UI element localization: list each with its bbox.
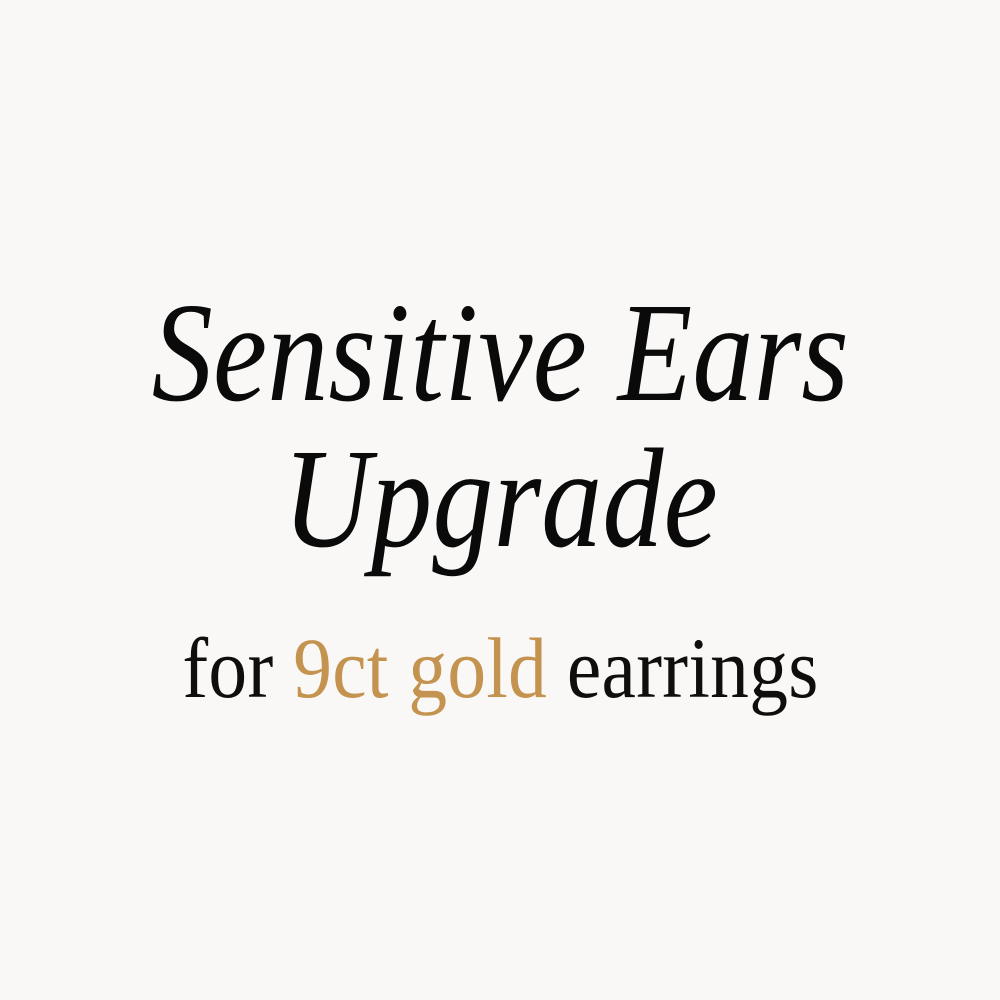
headline-line-2: Upgrade [151,427,848,569]
promo-card: Sensitive Ears Upgrade for 9ct gold earr… [0,0,1000,1000]
subtitle-prefix: for [182,620,273,716]
page-title: Sensitive Ears Upgrade [95,281,906,569]
subtitle-highlight-9ct-gold: 9ct gold [293,620,547,716]
subtitle: for 9ct gold earrings [182,623,818,713]
headline-line-1: Sensitive Ears [151,281,848,423]
promo-text-block: Sensitive Ears Upgrade for 9ct gold earr… [0,281,1000,713]
subtitle-suffix: earrings [566,620,818,716]
